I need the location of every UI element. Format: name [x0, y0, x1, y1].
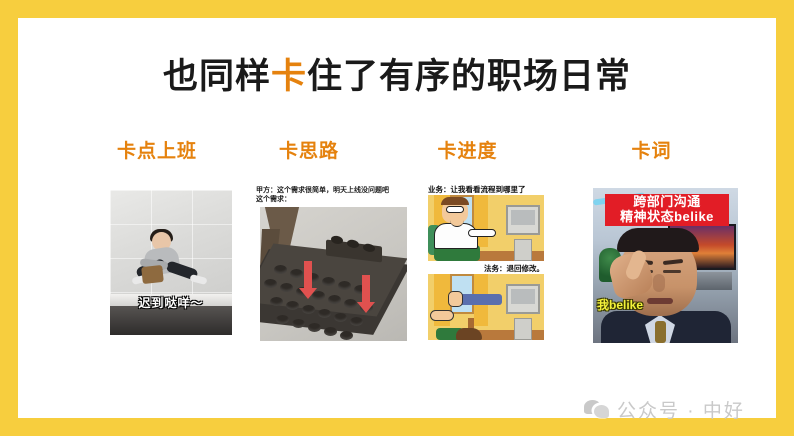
lego-arrow-right [362, 275, 370, 303]
man-nose [653, 274, 665, 292]
character-hair [441, 197, 469, 205]
lego-studs [260, 207, 407, 341]
meme-banner-eyerub: 跨部门沟通 精神状态belike [605, 194, 729, 226]
meme-header-lego: 甲方：这个需求很简单，明天上线没问题吧 这个需求： [256, 186, 407, 204]
familyguy-frame-2 [428, 274, 544, 340]
watermark-text: 公众号 · 中好 [617, 396, 745, 423]
meme-image-eyerub: 跨部门沟通 精神状态belike 我belike [593, 188, 738, 343]
title-text-before: 也同样 [163, 57, 271, 96]
character-arm [468, 229, 496, 237]
man-eye-right [663, 270, 681, 273]
lego-arrow-left [304, 261, 312, 289]
computer-monitor [506, 205, 540, 235]
character-shoe [456, 328, 482, 340]
section-label-4: 卡词 [630, 136, 673, 163]
familyguy-top-text: 业务：让我看看流程到哪里了 [428, 184, 526, 195]
lego-header-line-1: 甲方：这个需求很简单，明天上线没问题吧 [256, 186, 407, 195]
slide-frame: 也同样卡住了有序的职场日常 卡点上班 卡思路 卡进度 卡词 迟到哒咩～ [0, 0, 794, 436]
lego-header-line-2: 这个需求： [256, 195, 407, 204]
page-title: 也同样卡住了有序的职场日常 [18, 48, 776, 99]
meme-image-familyguy: 业务：让我看看流程到哪里了 法务：退回修改。 [428, 184, 544, 341]
person-front-shoe [189, 274, 207, 285]
meme-caption-runner: 迟到哒咩～ [110, 294, 232, 311]
section-label-3: 卡进度 [437, 136, 498, 163]
computer-tower [514, 239, 532, 261]
title-highlight-char: 卡 [271, 57, 307, 96]
section-label-1: 卡点上班 [117, 136, 197, 163]
character-glasses [446, 206, 464, 213]
man-hair [617, 228, 699, 252]
man-tie [655, 321, 666, 343]
meme-subtitle-eyerub: 我belike [597, 296, 643, 313]
lego-photo [260, 207, 407, 341]
section-label-2: 卡思路 [278, 136, 340, 163]
watermark: 公众号 · 中好 [584, 396, 745, 423]
fist [448, 291, 463, 307]
reaching-hand [430, 310, 454, 321]
running-person [134, 232, 210, 294]
slide-canvas: 也同样卡住了有序的职场日常 卡点上班 卡思路 卡进度 卡词 迟到哒咩～ [18, 18, 776, 418]
man-mouth [647, 298, 673, 304]
familyguy-mid-text: 法务：退回修改。 [484, 263, 544, 274]
title-text-after: 住了有序的职场日常 [307, 57, 631, 96]
banner-line-1: 跨部门沟通 [607, 195, 727, 209]
person-bag [141, 265, 164, 284]
computer-tower-2 [514, 318, 532, 340]
familyguy-frame-1 [428, 195, 544, 261]
meme-image-runner: 迟到哒咩～ [110, 190, 232, 335]
meme-image-lego: 甲方：这个需求很简单，明天上线没问题吧 这个需求： [256, 186, 407, 341]
wechat-icon [584, 400, 610, 419]
banner-line-2: 精神状态belike [607, 209, 727, 224]
computer-monitor-2 [506, 284, 540, 314]
